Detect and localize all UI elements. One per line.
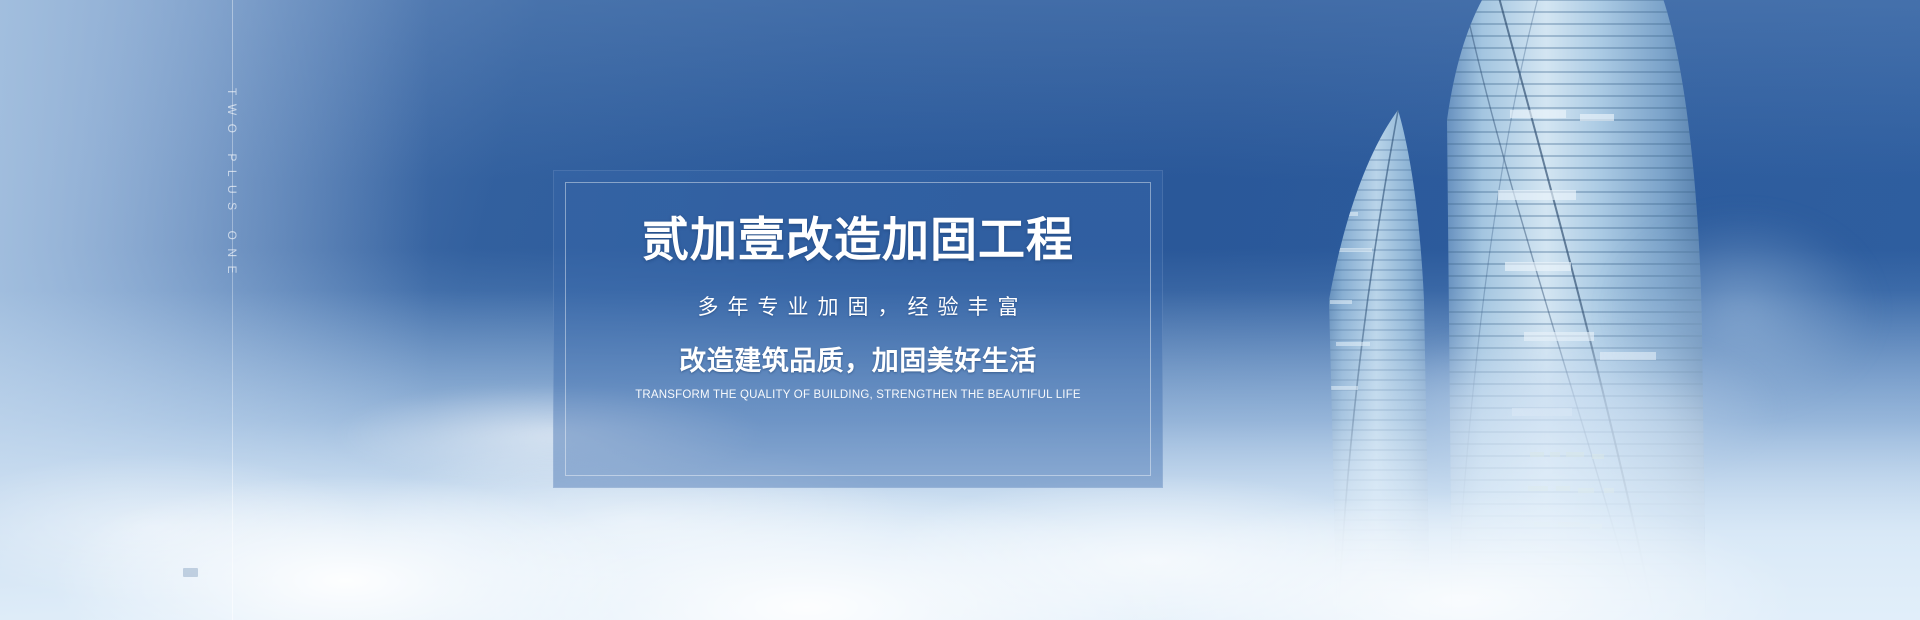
panel-content: 贰加壹改造加固工程 多年专业加固，经验丰富 改造建筑品质，加固美好生活 TRAN… xyxy=(554,171,1162,487)
hero-subline: 多年专业加固，经验丰富 xyxy=(689,297,1028,318)
hero-text-panel: 贰加壹改造加固工程 多年专业加固，经验丰富 改造建筑品质，加固美好生活 TRAN… xyxy=(553,170,1163,488)
hero-slogan: 改造建筑品质，加固美好生活 xyxy=(679,348,1037,375)
slide-indicator-icon xyxy=(183,568,198,577)
hero-slogan-english: TRANSFORM THE QUALITY OF BUILDING, STREN… xyxy=(635,390,1081,402)
vertical-brand-label: TWO PLUS ONE xyxy=(225,88,239,282)
hero-headline: 贰加壹改造加固工程 xyxy=(642,216,1074,263)
hero-banner: TWO PLUS ONE 贰加壹改造加固工程 多年专业加固，经验丰富 改造建筑品… xyxy=(0,0,1920,620)
